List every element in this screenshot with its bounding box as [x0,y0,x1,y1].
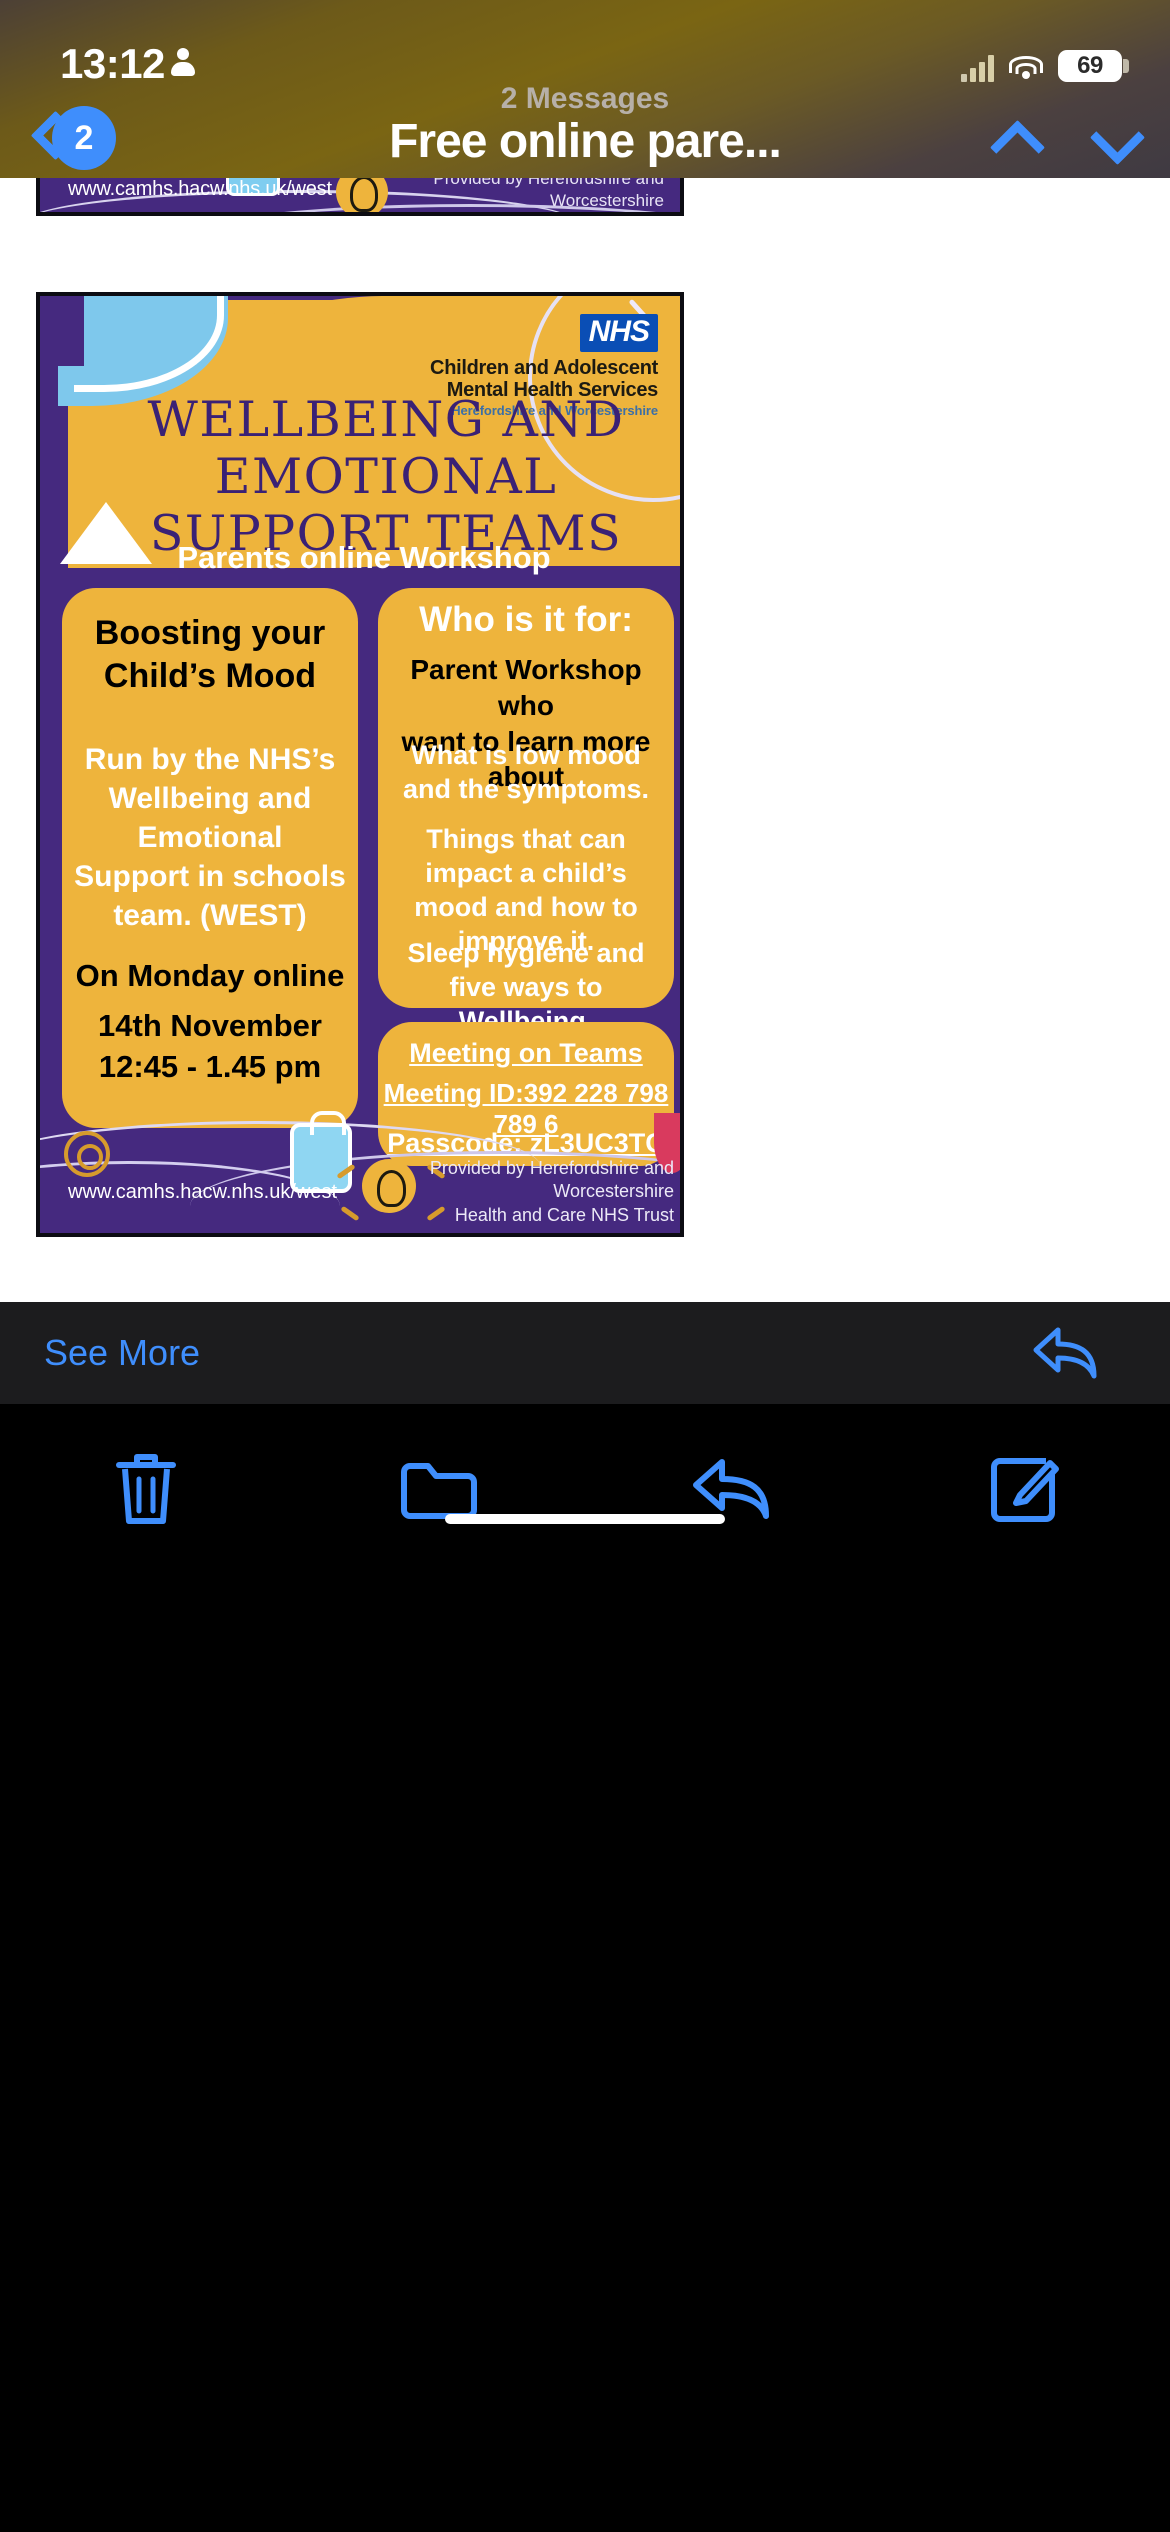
navigation-bar: 2 2 Messages Free online pare... [0,82,1170,178]
delete-icon[interactable] [0,1424,293,1554]
see-more-button[interactable]: See More [44,1332,200,1374]
reply-arrow-icon[interactable] [1028,1324,1100,1382]
card-left-body: Run by the NHS’sWellbeing andEmotionalSu… [68,740,352,935]
wifi-icon [1008,54,1044,82]
card-right-heading: Who is it for: [378,600,674,640]
poster-website-url: www.camhs.hacw.nhs.uk/west [68,178,332,201]
folder-icon[interactable] [293,1424,586,1554]
phone-screen: www.camhs.hacw.nhs.uk/west Provided by H… [0,0,1170,2532]
status-bar: 13:12 69 [0,22,1170,80]
card-left-date-line2: 14th November12:45 - 1.45 pm [68,1006,352,1088]
cellular-signal-icon [961,54,994,82]
mail-toolbar [0,1404,1170,2532]
card-left-date-line1: On Monday online [68,958,352,994]
top-bars: 13:12 69 2 2 Messages Free online pare..… [0,0,1170,178]
status-clock: 13:12 [60,40,165,88]
card-left-heading: Boosting yourChild’s Mood [62,612,358,698]
trust-line-2: Health and Care NHS Trust [374,1204,674,1227]
trust-line-2: Health and Care NHS Trust [364,212,664,217]
ribbon-mask [40,296,84,366]
trust-line-1: Provided by Herefordshire and Worcesters… [374,1157,674,1204]
battery-percent: 69 [1077,52,1103,80]
meeting-platform-label: Meeting on Teams [378,1038,674,1069]
previous-message-button[interactable] [990,110,1048,168]
poster-footer: www.camhs.hacw.nhs.uk/west Provided by H… [40,1127,684,1233]
spiral-icon [64,1131,110,1177]
reply-icon[interactable] [585,1424,878,1554]
compose-icon[interactable] [878,1424,1170,1554]
poster-title: WELLBEING ANDEMOTIONALSUPPORT TEAMS [136,392,636,562]
card-right-item: What is low mood and the symptoms. [388,738,664,806]
message-content[interactable]: www.camhs.hacw.nhs.uk/west Provided by H… [0,0,1170,2300]
status-indicators: 69 [961,42,1122,82]
poster-website-url: www.camhs.hacw.nhs.uk/west [68,1181,337,1204]
next-message-button[interactable] [1090,110,1148,168]
poster-subtitle: Parents online Workshop [40,540,684,576]
see-more-bar: See More [0,1302,1170,1404]
battery-icon: 69 [1058,50,1122,82]
nhs-logo: NHS [580,314,658,352]
person-icon [170,48,196,78]
poster-image-main[interactable]: NHS Children and AdolescentMental Health… [36,292,684,1237]
card-who-is-it-for: Who is it for: Parent Workshop whowant t… [378,588,674,1008]
card-workshop-details: Boosting yourChild’s Mood Run by the NHS… [62,588,358,1128]
home-indicator [445,1514,725,1524]
poster-trust-text: Provided by Herefordshire and Worcesters… [374,1157,674,1227]
